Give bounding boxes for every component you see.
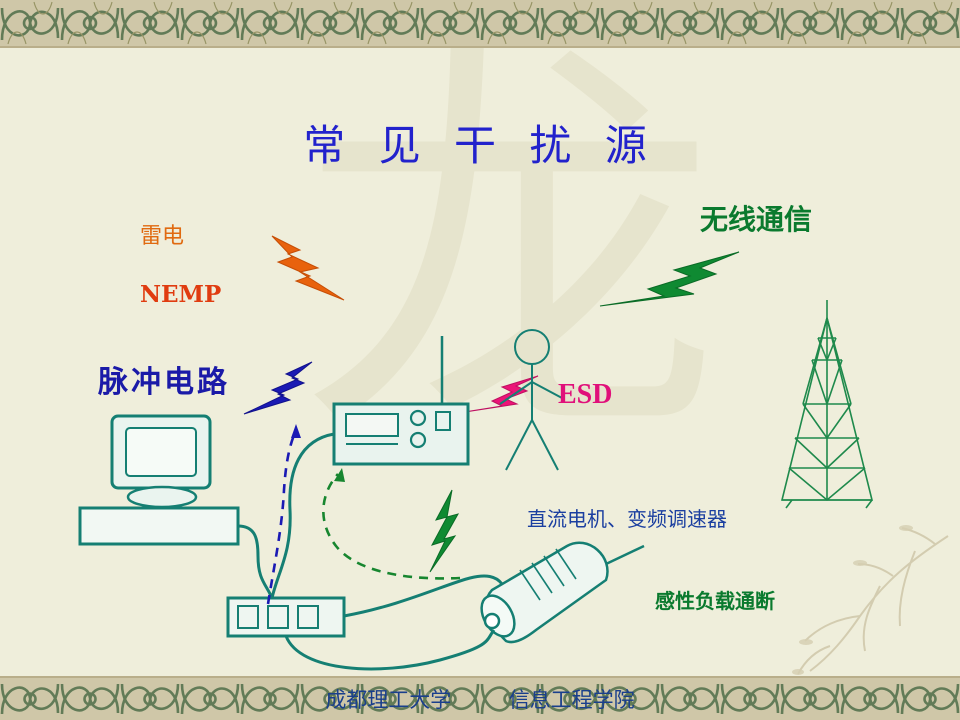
page-title: 常 见 干 扰 源	[0, 112, 960, 173]
radio-tower-icon	[782, 300, 872, 508]
footer-dept: 信息工程学院	[509, 684, 635, 714]
power-strip-icon	[228, 598, 344, 636]
electric-motor-icon	[475, 543, 644, 642]
label-nemp: NEMP	[140, 281, 221, 308]
computer-monitor-icon	[112, 416, 210, 507]
slide-canvas: 龙	[0, 0, 960, 720]
label-lightning: 雷电	[140, 218, 184, 250]
lightning-bolt-icon	[244, 362, 312, 414]
dashed-arrow-icon	[268, 430, 296, 604]
keyboard-icon	[80, 508, 238, 544]
lightning-bolt-icon	[600, 252, 739, 306]
label-motor-drive: 直流电机、变频调速器	[527, 503, 727, 532]
instrument-box-icon	[334, 336, 468, 464]
label-inductive-load: 感性负载通断	[655, 585, 775, 614]
label-wireless: 无线通信	[700, 198, 812, 238]
dashed-arrow-head	[291, 424, 301, 438]
footer: 成都理工大学 信息工程学院	[0, 684, 960, 714]
dashed-arrow-icon	[323, 474, 460, 578]
lightning-bolt-icon	[272, 236, 344, 300]
lightning-bolt-icon	[430, 490, 458, 572]
footer-org: 成都理工大学	[325, 684, 451, 714]
label-esd: ESD	[558, 379, 612, 411]
label-pulse-circuit: 脉冲电路	[98, 357, 230, 401]
